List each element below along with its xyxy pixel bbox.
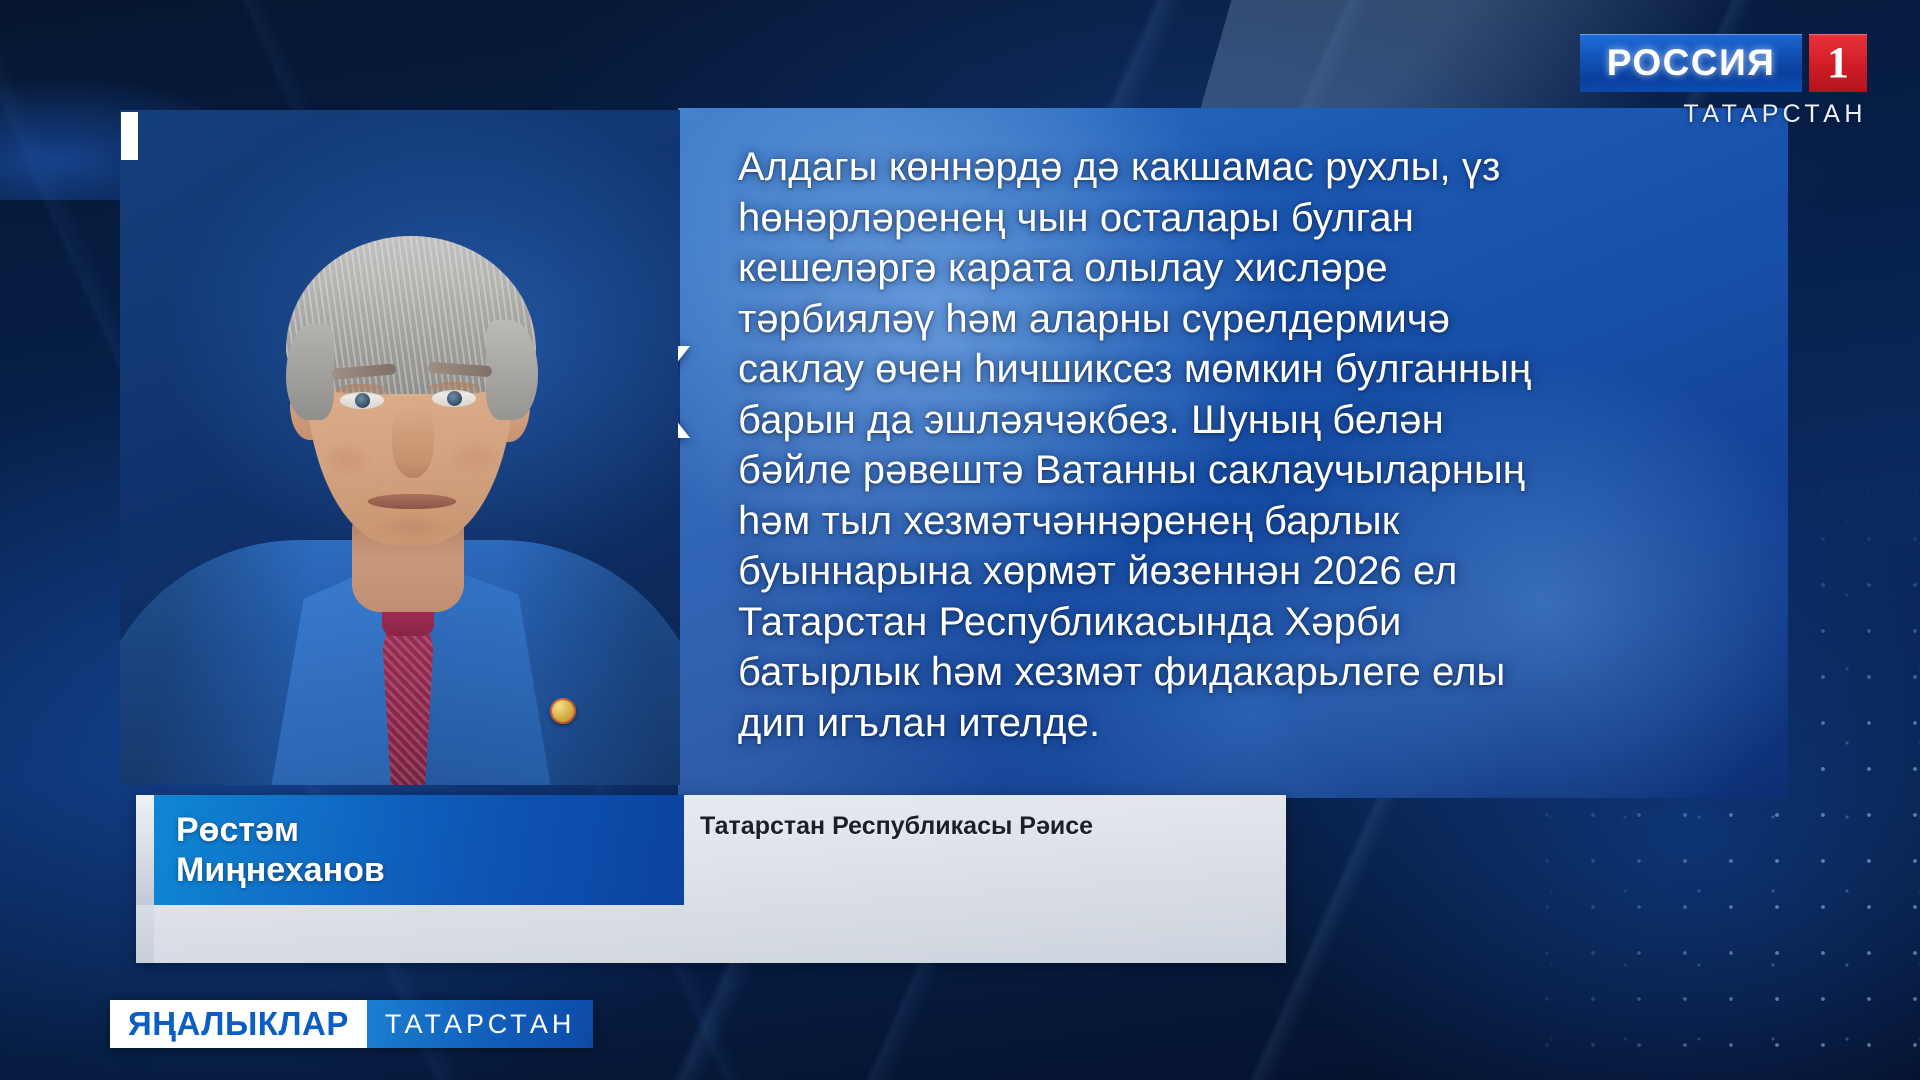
channel-logo: РОССИЯ 1 ТАТАРСТАН [1580,34,1867,129]
news-program-bug-name: ЯҢАЛЫКЛАР [110,1000,367,1048]
quote-line: Татарстан Республикасында Хәрби [738,597,1700,648]
quote-line: тәрбияләү һәм аларны сүрелдермичә [738,294,1700,345]
hair-side-left [286,324,334,420]
quote-line: дип игълан ителде. [738,698,1700,749]
chin-shading [354,512,470,550]
portrait-figure [120,110,680,785]
mouth [368,494,456,509]
channel-logo-region: ТАТАРСТАН [1580,100,1867,129]
quote-text: Алдагы көннәрдә дә какшамас рухлы, үз һө… [738,142,1700,748]
news-program-bug-region: ТАТАРСТАН [367,1000,594,1048]
speaker-portrait [120,110,680,785]
portrait-corner-marker [121,112,138,160]
quote-line: Алдагы көннәрдә дә какшамас рухлы, үз [738,142,1700,193]
quote-line: һөнәрләренең чын осталары булган [738,193,1700,244]
eyelid-right [428,382,480,394]
quote-panel: Алдагы көннәрдә дә какшамас рухлы, үз һө… [678,108,1788,798]
broadcast-screen: Алдагы көннәрдә дә какшамас рухлы, үз һө… [0,0,1920,1080]
quote-open-chevron-icon [678,340,690,444]
quote-line: барын да эшләячәкбез. Шуның белән [738,395,1700,446]
channel-logo-one-text: 1 [1827,41,1849,85]
channel-logo-one-badge: 1 [1809,34,1867,92]
channel-logo-row: РОССИЯ 1 [1580,34,1867,92]
channel-logo-rossiya: РОССИЯ [1580,34,1802,92]
nose [392,406,434,478]
news-program-bug: ЯҢАЛЫКЛАР ТАТАРСТАН [110,1000,593,1048]
eyelid-left [336,384,388,396]
news-program-label: ЯҢАЛЫКЛАР [128,1005,349,1043]
channel-logo-rossiya-text: РОССИЯ [1607,42,1776,84]
cheek-right [448,438,502,476]
name-bar-left-strip [136,795,154,905]
speaker-name-bar: Рөстәм Миңнеханов [136,795,684,905]
cheek-left [320,440,374,478]
lapel-pin-icon [550,698,576,724]
news-region-label: ТАТАРСТАН [385,1009,576,1040]
quote-line: буыннарына хөрмәт йөзеннән 2026 ел [738,546,1700,597]
quote-line: һәм тыл хезмәтчәннәренең барлык [738,496,1700,547]
quote-line: саклау өчен һичшиксез мөмкин булганның [738,344,1700,395]
quote-line: батырлык һәм хезмәт фидакарьлеге елы [738,647,1700,698]
speaker-role: Татарстан Республикасы Рәисе [700,812,1093,841]
speaker-name: Рөстәм Миңнеханов [176,810,385,890]
quote-line: бәйле рәвештә Ватанны саклаучыларның [738,445,1700,496]
quote-line: кешеләргә карата олылау хисләре [738,243,1700,294]
